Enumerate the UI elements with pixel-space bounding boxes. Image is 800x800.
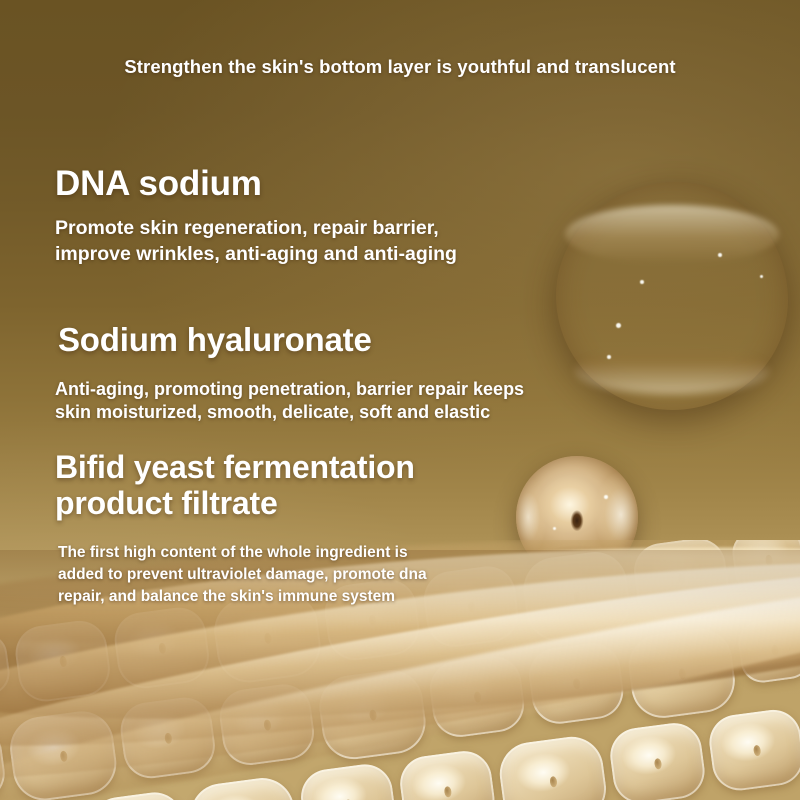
ingredient-description-line: repair, and balance the skin's immune sy… <box>58 586 427 608</box>
skincare-ingredient-poster: Strengthen the skin's bottom layer is yo… <box>0 0 800 800</box>
ingredient-title-line: Bifid yeast fermentation <box>55 450 427 486</box>
ingredient-description: The first high content of the whole ingr… <box>58 542 427 608</box>
ingredient-description-line: Anti-aging, promoting penetration, barri… <box>55 378 524 401</box>
ingredient-title: Sodium hyaluronate <box>58 322 524 359</box>
ingredient-description: Anti-aging, promoting penetration, barri… <box>55 378 524 425</box>
poster-headline: Strengthen the skin's bottom layer is yo… <box>0 56 800 78</box>
ingredient-title: Bifid yeast fermentation product filtrat… <box>55 450 427 522</box>
ingredient-block-bifid-yeast: Bifid yeast fermentation product filtrat… <box>55 450 427 608</box>
poster-text-layer: Strengthen the skin's bottom layer is yo… <box>0 0 800 800</box>
ingredient-block-dna-sodium: DNA sodium Promote skin regeneration, re… <box>55 164 457 267</box>
ingredient-description: Promote skin regeneration, repair barrie… <box>55 216 457 267</box>
ingredient-description-line: improve wrinkles, anti-aging and anti-ag… <box>55 242 457 267</box>
ingredient-title: DNA sodium <box>55 164 457 203</box>
ingredient-title-line: product filtrate <box>55 486 427 522</box>
ingredient-description-line: skin moisturized, smooth, delicate, soft… <box>55 401 524 424</box>
ingredient-block-sodium-hyaluronate: Sodium hyaluronate Anti-aging, promoting… <box>58 322 524 425</box>
ingredient-description-line: added to prevent ultraviolet damage, pro… <box>58 564 427 586</box>
ingredient-description-line: Promote skin regeneration, repair barrie… <box>55 216 457 241</box>
ingredient-description-line: The first high content of the whole ingr… <box>58 542 427 564</box>
